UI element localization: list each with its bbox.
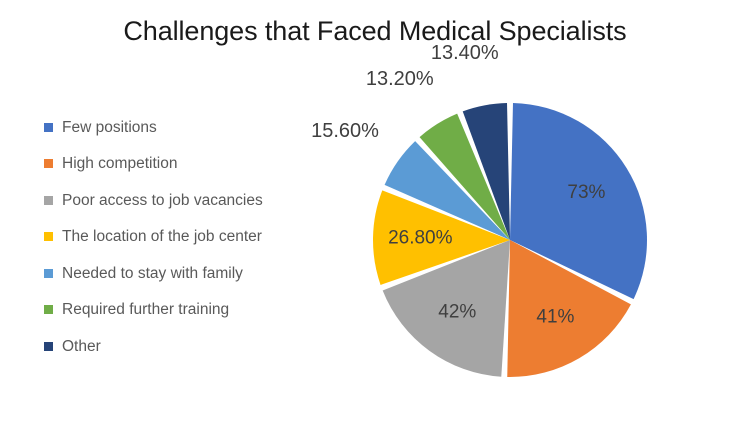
legend-item-label: Poor access to job vacancies: [62, 193, 263, 209]
legend-swatch-icon: [44, 123, 53, 132]
legend-item-poor-access-to-job-vacancies[interactable]: Poor access to job vacancies: [44, 182, 314, 219]
legend-item-label: Other: [62, 339, 101, 355]
legend-item-label: Few positions: [62, 120, 157, 136]
legend-item-few-positions[interactable]: Few positions: [44, 109, 314, 146]
slice-label-poor-access-to-job-vacancies: 42%: [438, 302, 476, 323]
chart-title: Challenges that Faced Medical Specialist…: [0, 16, 750, 47]
legend-item-label: Required further training: [62, 302, 229, 318]
pie-plot-area: 73%41%42%26.80% 15.60% 13.20% 13.40%: [360, 85, 670, 395]
slice-label-other: 13.40%: [431, 43, 499, 63]
slice-label-needed-to-stay-with-family: 15.60%: [311, 121, 379, 141]
chart-legend: Few positions High competition Poor acce…: [44, 109, 314, 365]
legend-item-other[interactable]: Other: [44, 328, 314, 365]
legend-item-label: High competition: [62, 156, 177, 172]
slice-label-high-competition: 41%: [536, 306, 574, 327]
legend-item-high-competition[interactable]: High competition: [44, 146, 314, 183]
pie-chart-figure: Challenges that Faced Medical Specialist…: [0, 0, 750, 427]
legend-swatch-icon: [44, 342, 53, 351]
legend-item-label: Needed to stay with family: [62, 266, 243, 282]
legend-item-needed-to-stay-with-family[interactable]: Needed to stay with family: [44, 255, 314, 292]
legend-swatch-icon: [44, 196, 53, 205]
legend-item-the-location-of-the-job-center[interactable]: The location of the job center: [44, 219, 314, 256]
legend-item-label: The location of the job center: [62, 229, 262, 245]
slice-label-few-positions: 73%: [567, 182, 605, 203]
slice-label-required-further-training: 13.20%: [366, 69, 434, 89]
slice-label-the-location-of-the-job-center: 26.80%: [388, 227, 453, 248]
legend-swatch-icon: [44, 305, 53, 314]
legend-item-required-further-training[interactable]: Required further training: [44, 292, 314, 329]
legend-swatch-icon: [44, 269, 53, 278]
legend-swatch-icon: [44, 232, 53, 241]
legend-swatch-icon: [44, 159, 53, 168]
pie-svg: 73%41%42%26.80%: [360, 85, 670, 395]
